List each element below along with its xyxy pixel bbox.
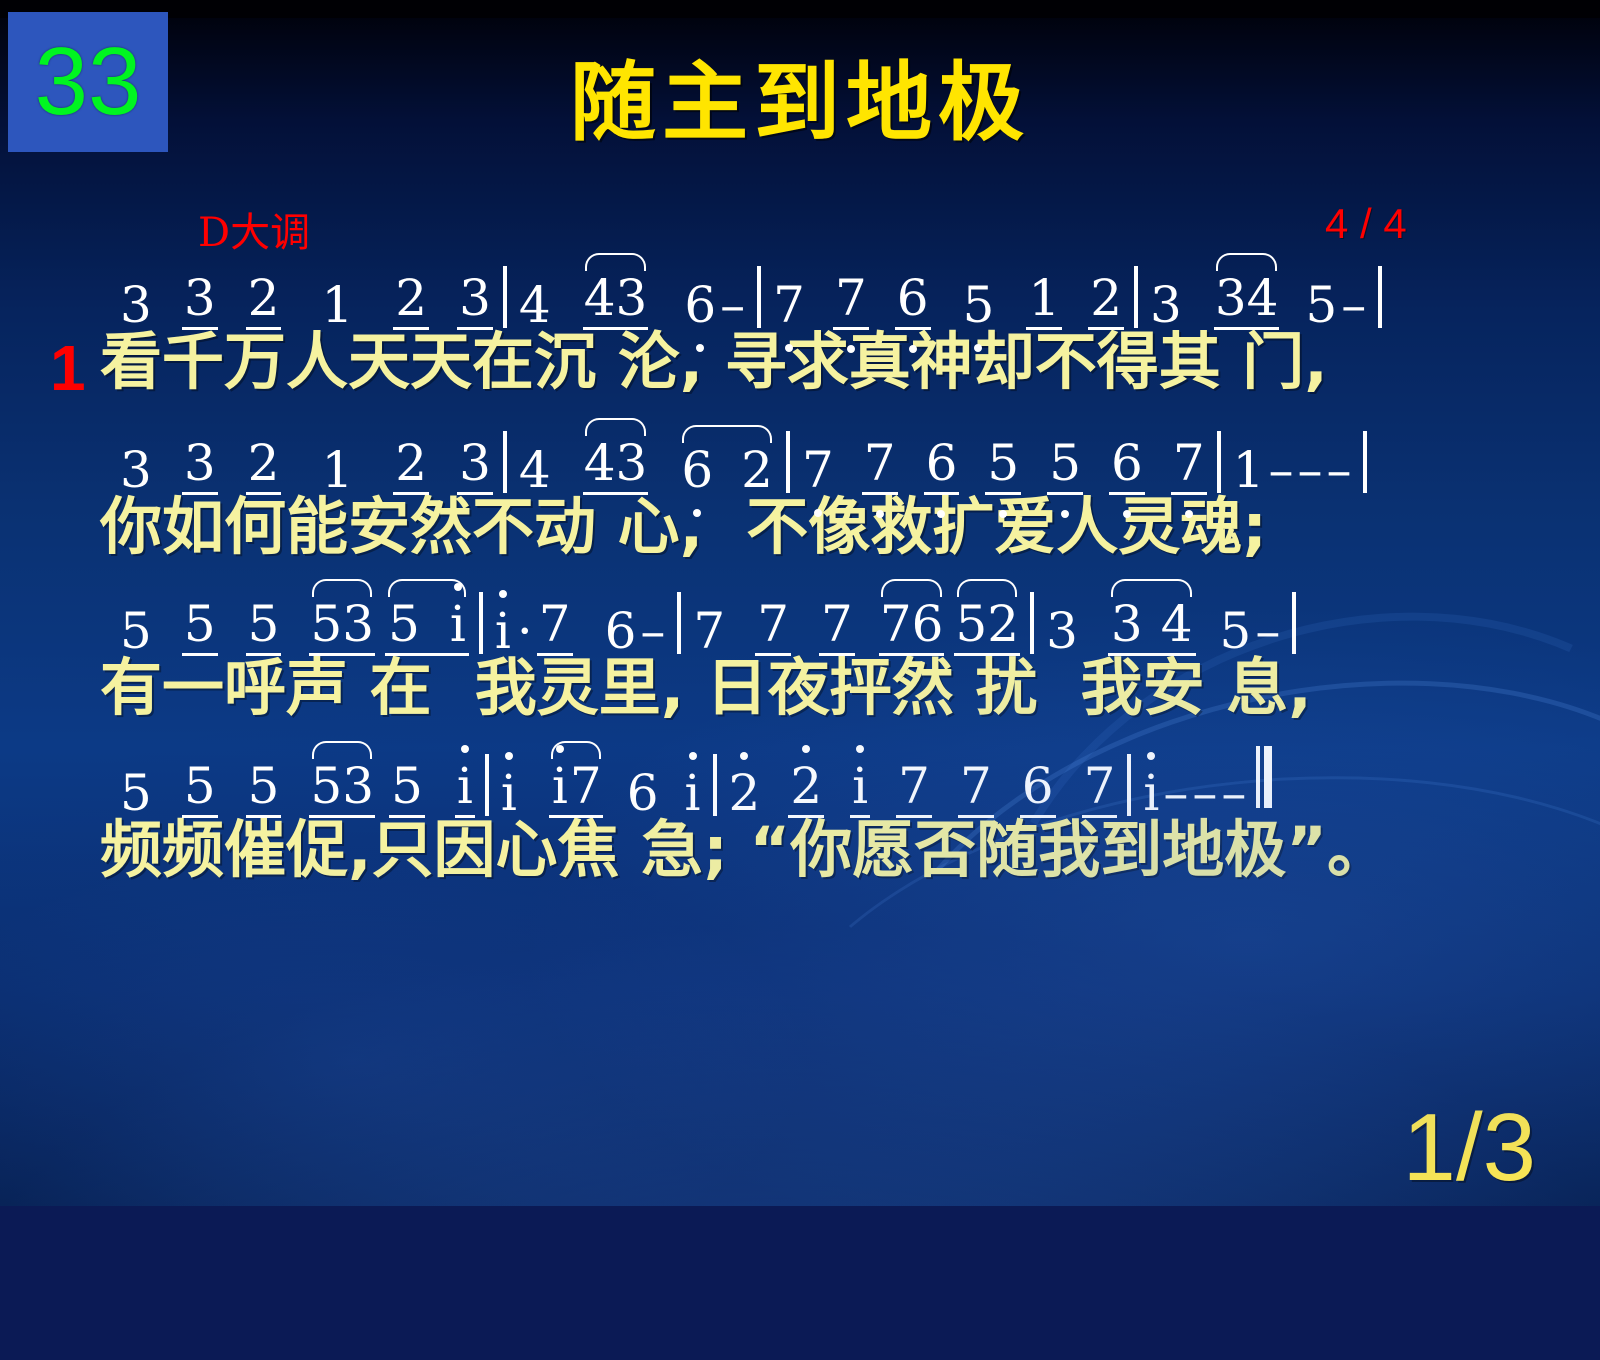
barline xyxy=(1217,431,1221,493)
note: 7 xyxy=(819,599,855,656)
note-group-slur: 52 xyxy=(954,599,1020,656)
slur-icon xyxy=(585,253,645,271)
note: i xyxy=(850,761,870,818)
barline xyxy=(503,266,507,328)
note: 7 xyxy=(771,280,807,330)
sustain-dash: – xyxy=(1161,768,1190,818)
note: 6 xyxy=(682,280,718,330)
note-group-slur: 43 xyxy=(583,273,649,330)
slide-canvas: 33 随主到地极 D大调 4 / 4 3 3 2 1 2 3 4 43 6 – … xyxy=(0,0,1600,1206)
octave-down-dot-icon xyxy=(814,509,822,517)
note: i xyxy=(493,606,513,656)
octave-up-dot-icon xyxy=(454,583,462,591)
key-signature-label: D大调 xyxy=(198,200,310,258)
lyric-line-2: 你如何能安然不动 心, 不像救扩爱人灵魂; xyxy=(0,495,1600,558)
note: i xyxy=(1141,768,1161,818)
note: 1 xyxy=(1026,273,1062,330)
octave-up-dot-icon xyxy=(1147,752,1155,760)
note: 2 xyxy=(393,273,429,330)
barline xyxy=(1134,266,1138,328)
note: 4 xyxy=(517,445,553,495)
sustain-dash: – xyxy=(1219,768,1248,818)
octave-down-dot-icon xyxy=(974,344,982,352)
note: i xyxy=(550,761,570,811)
lyric-line-4: 频频催促,只因心焦 急; “你愿否随我到地极”。 xyxy=(0,818,1600,881)
note: 2 xyxy=(727,768,763,818)
barline xyxy=(757,266,761,328)
barline xyxy=(503,431,507,493)
notation-row-2: 3 3 2 1 2 3 4 43 62 7 7 6 5 5 6 7 1 xyxy=(0,417,1600,495)
note: i xyxy=(455,761,475,818)
barline xyxy=(1378,266,1382,328)
note: 6 xyxy=(1020,761,1056,818)
lyric-line-3: 有一呼声 在 我灵里, 日夜抨然 扰 我安 息, xyxy=(0,656,1600,719)
note: 6 xyxy=(924,438,960,495)
note: 2 xyxy=(246,438,282,495)
note: 2 xyxy=(739,445,775,495)
note: i xyxy=(683,768,703,818)
octave-down-dot-icon xyxy=(1123,510,1131,518)
note: 7 xyxy=(691,606,727,656)
note: 7 xyxy=(1171,438,1207,495)
note: 2 xyxy=(393,438,429,495)
sustain-dash: – xyxy=(1339,280,1368,330)
octave-up-dot-icon xyxy=(740,752,748,760)
note: 5 xyxy=(246,761,282,818)
note-group-slur: i7 xyxy=(549,761,603,818)
octave-down-dot-icon xyxy=(847,345,855,353)
lyric-line-1: 看千万人天天在沉 沦, 寻求真神却不得其 门, xyxy=(0,330,1600,393)
note: 1 xyxy=(319,445,355,495)
sustain-dash: – xyxy=(1295,445,1324,495)
note: 6 xyxy=(625,768,661,818)
octave-up-dot-icon xyxy=(505,752,513,760)
verse-number: 1 xyxy=(50,336,86,400)
note: 5 xyxy=(246,599,282,656)
slur-icon xyxy=(1216,253,1276,271)
note: 7 xyxy=(958,761,994,818)
note-group-slur: 62 xyxy=(678,445,776,495)
note: 5 xyxy=(118,606,154,656)
slur-icon xyxy=(312,579,372,597)
sustain-dash: – xyxy=(1266,445,1295,495)
note: 3 xyxy=(182,438,218,495)
note: 3 xyxy=(182,273,218,330)
octave-up-dot-icon xyxy=(461,745,469,753)
final-barline xyxy=(1256,746,1272,816)
note: 7 xyxy=(862,438,898,495)
octave-down-dot-icon xyxy=(876,510,884,518)
note: 5 xyxy=(118,768,154,818)
note-group-slur: 53 xyxy=(309,599,375,656)
note: i xyxy=(448,599,468,649)
augmentation-dot-icon: · xyxy=(513,606,537,656)
note-group-slur: 34 xyxy=(1214,273,1280,330)
note: 6 xyxy=(679,445,715,495)
note: 7 xyxy=(800,445,836,495)
octave-down-dot-icon xyxy=(785,344,793,352)
notation-row-3: 5 5 5 53 5i i · 7 6 – 7 7 7 76 52 3 xyxy=(0,578,1600,656)
note-group-slur: 43 xyxy=(583,438,649,495)
note: 1 xyxy=(319,280,355,330)
note: 3 xyxy=(457,273,493,330)
note-group-slur: 5i xyxy=(385,599,469,656)
barline xyxy=(1127,754,1131,816)
note: 4 xyxy=(517,280,553,330)
music-sheet: 3 3 2 1 2 3 4 43 6 – 7 7 6 5 1 2 3 xyxy=(0,252,1600,881)
note: 5 xyxy=(389,761,425,818)
barline xyxy=(713,754,717,816)
octave-up-dot-icon xyxy=(499,590,507,598)
barline xyxy=(786,431,790,493)
note: 5 xyxy=(1047,438,1083,495)
note-group-slur: 34 xyxy=(1108,599,1196,656)
note: 5 xyxy=(985,438,1021,495)
note: 5 xyxy=(1218,606,1254,656)
barline xyxy=(1292,592,1296,654)
music-system-4: 5 5 5 53 5 i i i7 6 i 2 2 i 7 7 6 7 xyxy=(0,740,1600,881)
octave-down-dot-icon xyxy=(999,510,1007,518)
octave-down-dot-icon xyxy=(693,509,701,517)
note: 3 xyxy=(457,438,493,495)
top-black-bar xyxy=(0,0,1600,18)
slur-icon xyxy=(312,741,372,759)
note-group-slur: 53 xyxy=(309,761,375,818)
slur-icon xyxy=(585,418,645,436)
note: 4 xyxy=(1159,599,1195,649)
octave-down-dot-icon xyxy=(1185,510,1193,518)
note: i xyxy=(499,768,519,818)
note: 7 xyxy=(896,761,932,818)
note: 2 xyxy=(788,761,824,818)
note: 5 xyxy=(182,599,218,656)
note: 3 xyxy=(1148,280,1184,330)
note: 2 xyxy=(246,273,282,330)
note: 5 xyxy=(182,761,218,818)
note: 6 xyxy=(895,273,931,330)
octave-up-dot-icon xyxy=(856,745,864,753)
note: 5 xyxy=(1303,280,1339,330)
time-signature-label: 4 / 4 xyxy=(1325,200,1407,248)
sustain-dash: – xyxy=(638,606,667,656)
octave-down-dot-icon xyxy=(909,345,917,353)
barline xyxy=(485,754,489,816)
note: 6 xyxy=(1109,438,1145,495)
barline xyxy=(677,592,681,654)
octave-down-dot-icon xyxy=(937,510,945,518)
note: 7 xyxy=(537,599,573,656)
music-system-2: 3 3 2 1 2 3 4 43 62 7 7 6 5 5 6 7 1 xyxy=(0,417,1600,558)
slur-icon xyxy=(957,579,1017,597)
note: 6 xyxy=(603,606,639,656)
octave-down-dot-icon xyxy=(696,344,704,352)
slur-icon xyxy=(881,579,941,597)
music-system-3: 5 5 5 53 5i i · 7 6 – 7 7 7 76 52 3 xyxy=(0,578,1600,719)
note: 5 xyxy=(386,599,422,649)
note: 7 xyxy=(1082,761,1118,818)
note-group-slur: 76 xyxy=(879,599,945,656)
sustain-dash: – xyxy=(718,280,747,330)
note: 1 xyxy=(1231,445,1267,495)
page-indicator: 1/3 xyxy=(1403,1100,1536,1196)
octave-up-dot-icon xyxy=(802,745,810,753)
note: 3 xyxy=(118,280,154,330)
barline xyxy=(479,592,483,654)
octave-up-dot-icon xyxy=(556,745,564,753)
note: 3 xyxy=(1044,606,1080,656)
octave-down-dot-icon xyxy=(1061,510,1069,518)
notation-row-4: 5 5 5 53 5 i i i7 6 i 2 2 i 7 7 6 7 xyxy=(0,740,1600,818)
page-title: 随主到地极 xyxy=(0,60,1600,146)
barline xyxy=(1030,592,1034,654)
barline xyxy=(1363,431,1367,493)
note: 2 xyxy=(1088,273,1124,330)
sustain-dash: – xyxy=(1324,445,1353,495)
music-system-1: 3 3 2 1 2 3 4 43 6 – 7 7 6 5 1 2 3 xyxy=(0,252,1600,393)
notation-row-1: 3 3 2 1 2 3 4 43 6 – 7 7 6 5 1 2 3 xyxy=(0,252,1600,330)
sustain-dash: – xyxy=(1253,606,1282,656)
note: 7 xyxy=(755,599,791,656)
note: 5 xyxy=(961,280,997,330)
note: 3 xyxy=(1109,599,1145,649)
note: 7 xyxy=(833,273,869,330)
octave-up-dot-icon xyxy=(689,752,697,760)
sustain-dash: – xyxy=(1190,768,1219,818)
note: 3 xyxy=(118,445,154,495)
